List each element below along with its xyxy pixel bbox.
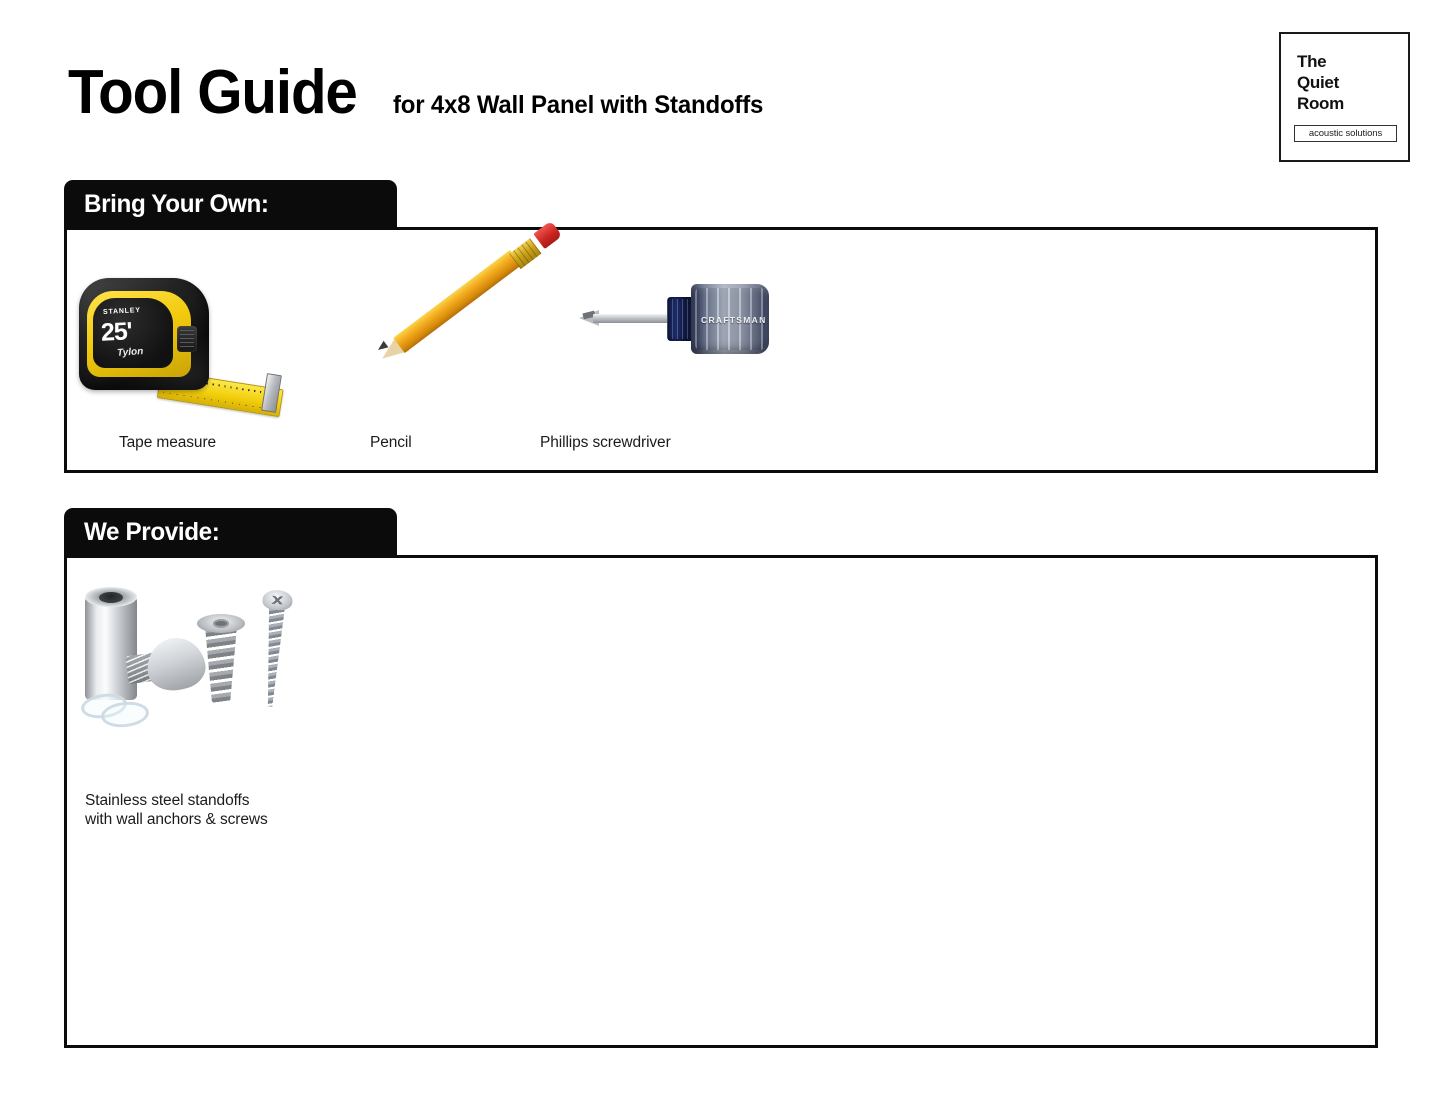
section-tab-label: Bring Your Own: <box>84 190 269 219</box>
tool-caption-pencil: Pencil <box>370 433 412 452</box>
section-tab-bring-your-own: Bring Your Own: <box>64 180 397 228</box>
section-panel-we-provide: Stainless steel standoffs with wall anch… <box>64 555 1378 1048</box>
title-row: Tool Guide for 4x8 Wall Panel with Stand… <box>68 62 779 124</box>
tape-size-label: 25' <box>100 317 132 348</box>
wall-anchor-icon <box>203 614 239 710</box>
section-panel-bring-your-own: STANLEY 25' Tylon Tape measure Pencil <box>64 227 1378 473</box>
brand-line-1: The <box>1297 51 1344 72</box>
pencil-body-icon <box>393 250 521 353</box>
brand-logo-lines: The Quiet Room <box>1297 51 1344 114</box>
screw-body <box>261 606 286 707</box>
tool-caption-phillips-screwdriver: Phillips screwdriver <box>540 433 671 452</box>
brand-logo: The Quiet Room acoustic solutions <box>1279 32 1410 162</box>
brand-tagline: acoustic solutions <box>1309 128 1382 139</box>
tape-measure-icon: STANLEY 25' Tylon <box>79 278 299 423</box>
screwdriver-shaft-icon <box>593 314 673 323</box>
screw-head <box>262 589 293 611</box>
tape-brand-label: STANLEY <box>103 307 141 316</box>
tool-caption-tape-measure: Tape measure <box>119 433 216 452</box>
screwdriver-handle-icon: CRAFTSMAN <box>691 284 769 354</box>
section-bring-your-own: Bring Your Own: STANLEY 25' Tylon Tape m… <box>64 180 1378 473</box>
standoff-hardware-icon <box>75 578 315 793</box>
standoff-cap-icon <box>144 634 209 694</box>
brand-line-2: Quiet <box>1297 72 1344 93</box>
page-header: Tool Guide for 4x8 Wall Panel with Stand… <box>0 0 1445 175</box>
tape-body-icon: STANLEY 25' Tylon <box>79 278 209 390</box>
screw-icon <box>255 589 293 711</box>
section-tab-label: We Provide: <box>84 518 219 547</box>
section-we-provide: We Provide: Stainless steel standoffs wi… <box>64 508 1378 1048</box>
pencil-graphic <box>377 278 577 408</box>
tape-lock-button-icon <box>177 326 197 352</box>
phillips-screwdriver-icon: CRAFTSMAN <box>579 272 794 422</box>
screwdriver-brand-label: CRAFTSMAN <box>701 315 767 325</box>
page-subtitle: for 4x8 Wall Panel with Standoffs <box>393 91 763 120</box>
wall-anchor-body <box>205 626 237 704</box>
wall-anchor-head <box>197 614 245 633</box>
pencil-eraser-icon <box>533 221 562 249</box>
brand-tagline-box: acoustic solutions <box>1294 125 1397 142</box>
tape-face-plate: STANLEY 25' Tylon <box>93 298 173 368</box>
pencil-icon <box>367 248 577 423</box>
section-tab-we-provide: We Provide: <box>64 508 397 556</box>
tape-model-label: Tylon <box>117 346 144 359</box>
brand-line-3: Room <box>1297 93 1344 114</box>
standoff-barrel-icon <box>85 596 137 700</box>
tool-caption-standoffs: Stainless steel standoffs with wall anch… <box>85 791 268 829</box>
page-title: Tool Guide <box>68 62 357 124</box>
